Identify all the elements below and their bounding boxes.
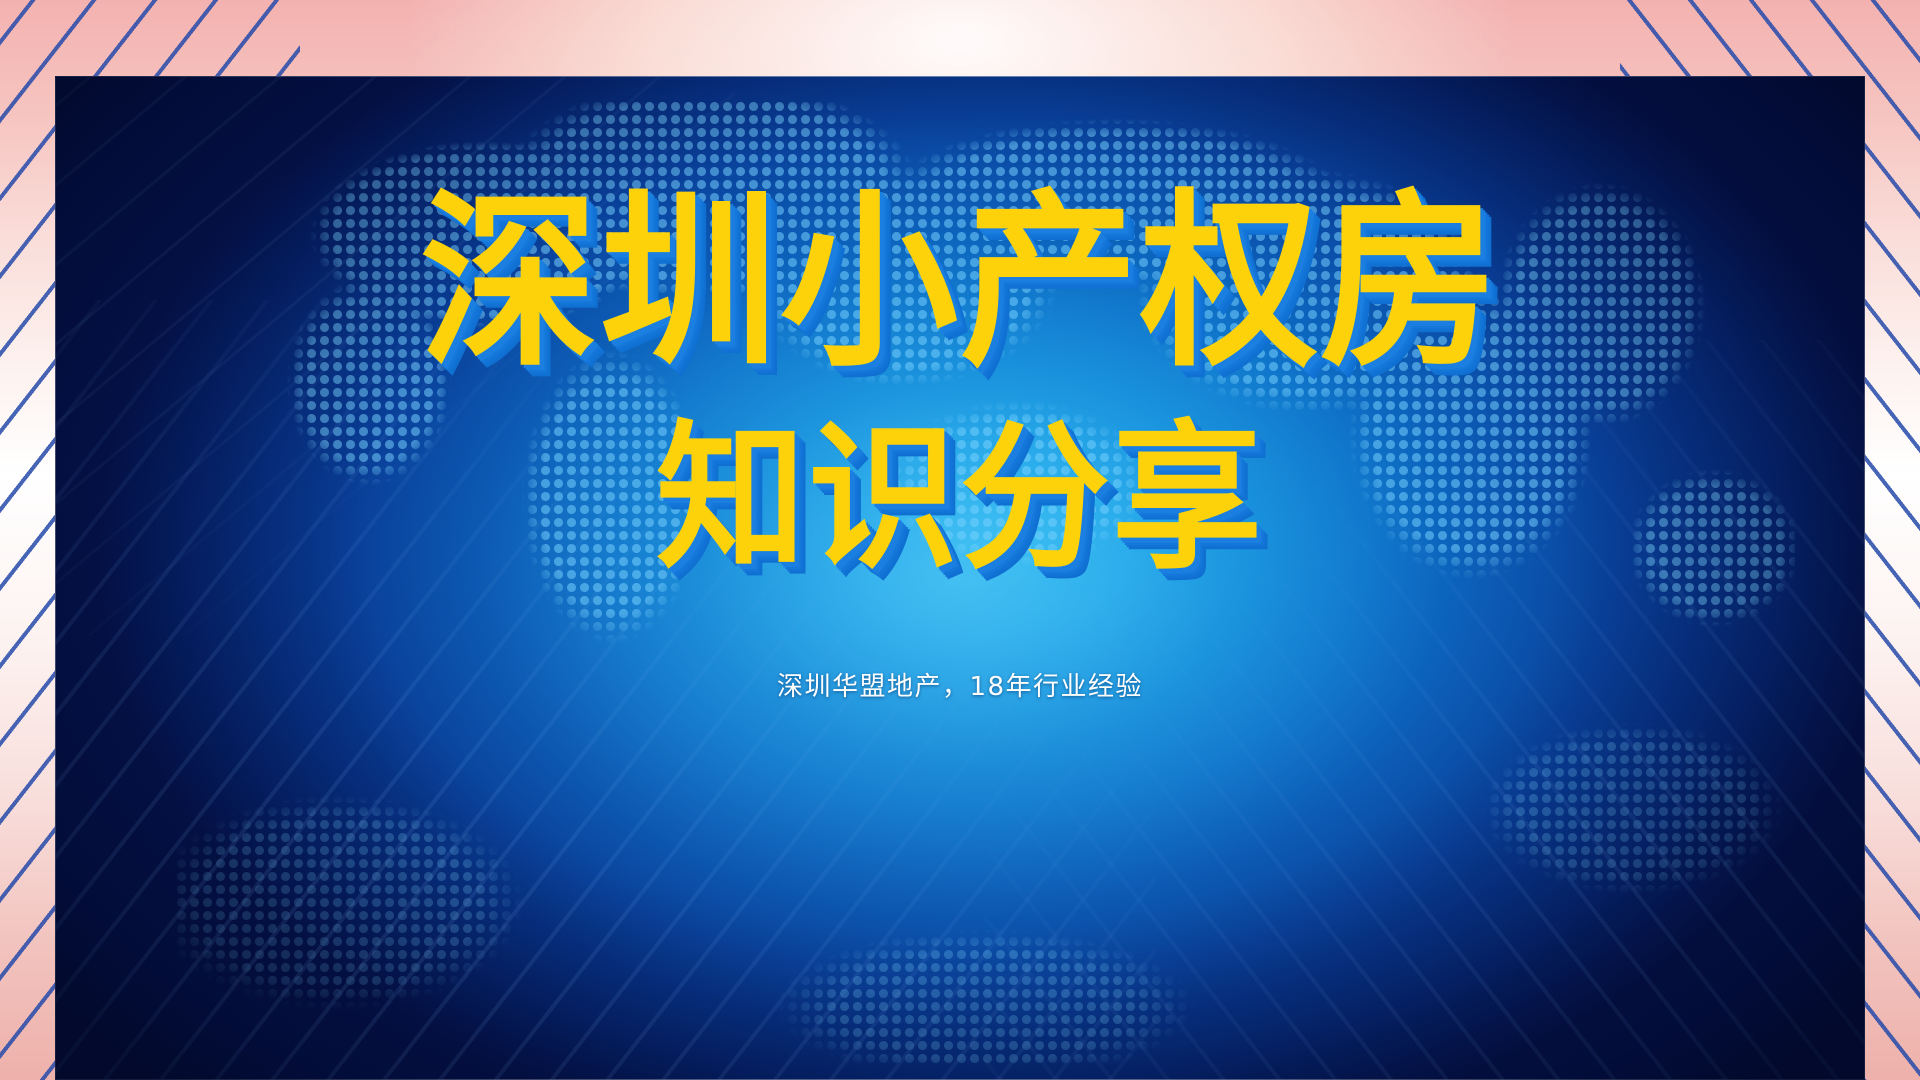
slide-title-line-2: 知识分享 — [55, 420, 1865, 579]
slide-title-line-1: 深圳小产权房 — [55, 189, 1865, 378]
title-slide: 深圳小产权房 知识分享 深圳华盟地产，18年行业经验 — [0, 0, 1920, 1080]
slide-subtitle: 深圳华盟地产，18年行业经验 — [55, 666, 1865, 703]
slide-panel: 深圳小产权房 知识分享 深圳华盟地产，18年行业经验 — [55, 76, 1865, 1080]
title-block: 深圳小产权房 知识分享 深圳华盟地产，18年行业经验 — [55, 194, 1865, 703]
